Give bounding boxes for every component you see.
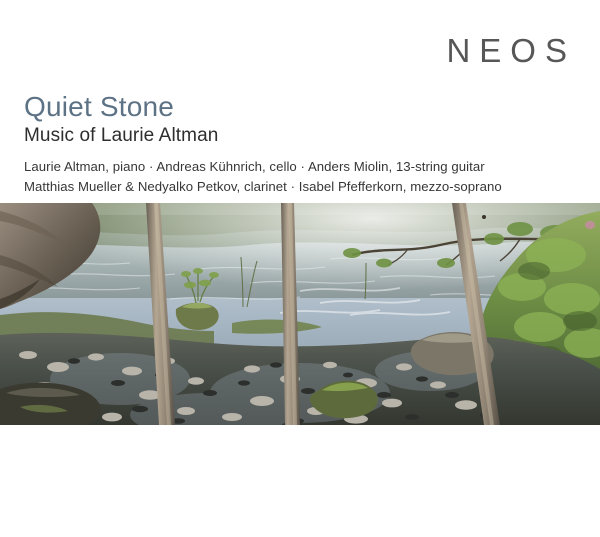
album-subtitle: Music of Laurie Altman [24,125,218,147]
neos-label-logo: NEOS [437,33,576,69]
cover-photograph-image [0,203,600,425]
performer-credits: Laurie Altman, piano · Andreas Kühnrich,… [24,157,580,196]
album-cover: NEOS Quiet Stone Music of Laurie Altman … [0,0,600,537]
credit-line-1: Laurie Altman, piano · Andreas Kühnrich,… [24,157,580,177]
credit-line-2: Matthias Mueller & Nedyalko Petkov, clar… [24,177,580,197]
album-title: Quiet Stone [24,92,174,122]
cover-photograph [0,203,600,425]
